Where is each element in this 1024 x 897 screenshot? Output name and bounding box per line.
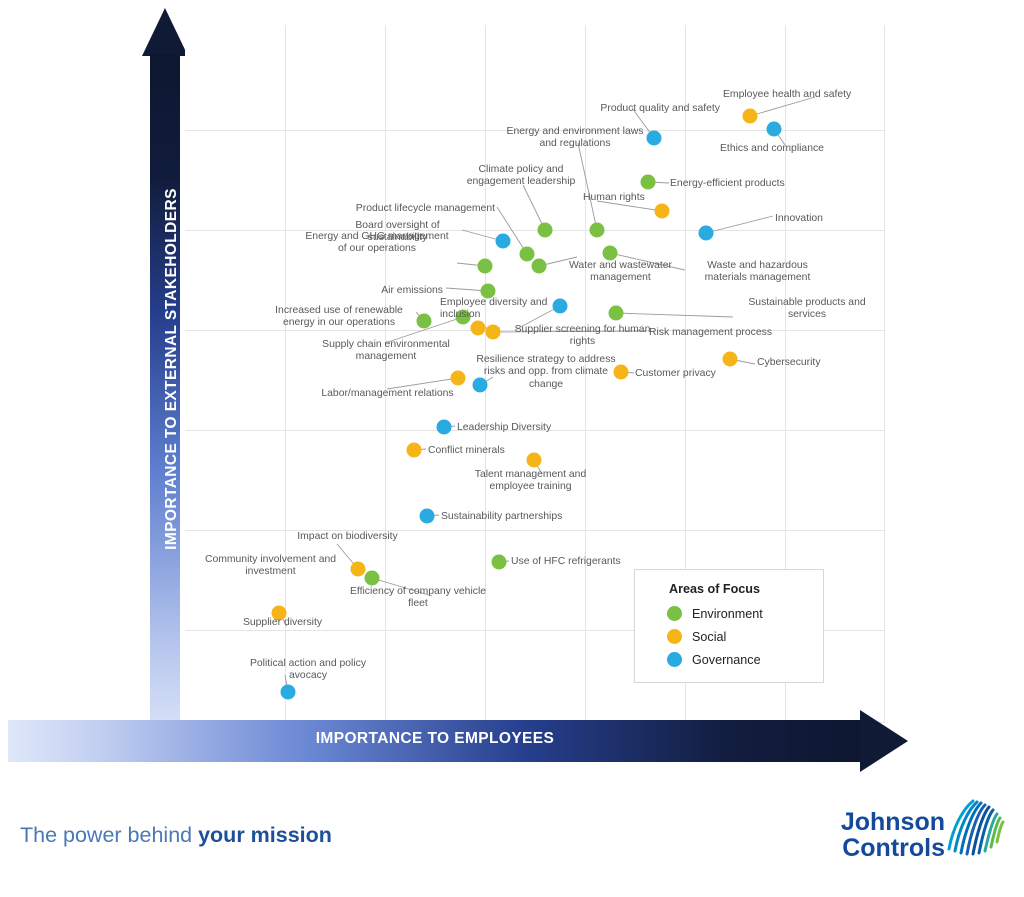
gridline-horizontal [185,230,885,231]
label-product-lifecycle-management: Product lifecycle management [335,203,495,215]
y-axis-arrowhead [142,8,188,56]
data-point-employee-health-and-safety[interactable] [743,109,758,124]
data-point-political-action-and-policy-advocacy[interactable] [281,685,296,700]
label-supply-chain-environmental: Supply chain environmental management [310,339,462,364]
label-customer-privacy: Customer privacy [635,368,740,380]
label-air-emissions: Air emissions [363,285,443,297]
label-innovation: Innovation [775,213,850,225]
data-point-ethics-and-compliance[interactable] [767,122,782,137]
data-point-efficiency-of-company-vehicle-fleet[interactable] [365,571,380,586]
data-point-product-lifecycle-management[interactable] [520,247,535,262]
data-point-innovation[interactable] [699,226,714,241]
data-point-supplier-screening-for-human-rights[interactable] [471,321,486,336]
label-efficiency-of-company-vehicle-fleet: Efficiency of company vehicle fleet [338,586,498,611]
legend: Areas of Focus EnvironmentSocialGovernan… [634,569,824,683]
label-energy-and-ghg-management: Energy and GHG management of our operati… [297,231,457,256]
label-climate-policy: Climate policy and engagement leadership [451,164,591,189]
label-conflict-minerals: Conflict minerals [428,445,528,457]
data-point-impact-on-biodiversity[interactable] [351,562,366,577]
label-political-action: Political action and policy avocacy [233,658,383,683]
label-energy-efficient-products: Energy-efficient products [670,178,810,190]
label-cybersecurity: Cybersecurity [757,357,847,369]
data-point-increased-use-of-renewable-energy[interactable] [417,314,432,329]
data-point-use-of-hfc-refrigerants[interactable] [492,555,507,570]
legend-label: Governance [692,653,761,667]
label-energy-and-environment-laws: Energy and environment laws and regulati… [485,126,665,151]
data-point-labor-management-relations[interactable] [451,371,466,386]
data-point-cybersecurity[interactable] [723,352,738,367]
label-sustainability-partnerships: Sustainability partnerships [441,511,591,523]
johnson-controls-logo: Johnson Controls [795,795,1010,880]
data-point-board-oversight-of-sustainability[interactable] [496,234,511,249]
legend-swatch-social-icon [667,629,682,644]
legend-swatch-governance-icon [667,652,682,667]
logo-line-1: Johnson [795,809,945,835]
label-product-quality-and-safety: Product quality and safety [585,103,720,115]
tagline-light: The power behind [20,823,198,847]
legend-title: Areas of Focus [669,582,823,596]
data-point-water-and-wastewater-management[interactable] [532,259,547,274]
logo-wordmark: Johnson Controls [795,809,945,861]
data-point-leadership-diversity[interactable] [437,420,452,435]
data-point-human-rights[interactable] [655,204,670,219]
data-point-sustainable-products-and-services[interactable] [609,306,624,321]
y-axis: IMPORTANCE TO EXTERNAL STAKEHOLDERS [142,8,188,750]
data-point-energy-and-ghg-management[interactable] [478,259,493,274]
label-leadership-diversity: Leadership Diversity [457,422,577,434]
x-axis: IMPORTANCE TO EMPLOYEES [8,710,908,772]
label-risk-management-process: Risk management process [649,327,794,339]
logo-swirl-icon [943,797,1007,859]
label-water-and-wastewater-management: Water and wastewater management [553,260,688,285]
label-talent-management: Talent management and employee training [453,469,608,494]
label-labor-management-relations: Labor/management relations [310,388,465,400]
label-human-rights: Human rights [583,192,663,204]
data-point-risk-management-process[interactable] [486,325,501,340]
label-employee-health-and-safety: Employee health and safety [723,89,873,101]
x-axis-label: IMPORTANCE TO EMPLOYEES [8,730,862,748]
logo-line-2: Controls [795,835,945,861]
data-point-conflict-minerals[interactable] [407,443,422,458]
tagline: The power behind your mission [20,823,332,848]
label-employee-diversity: Employee diversity and inclusion [440,297,570,322]
data-point-waste-and-hazardous-materials-management[interactable] [603,246,618,261]
legend-item-governance[interactable]: Governance [667,648,823,671]
label-supplier-diversity: Supplier diversity [230,617,335,629]
legend-rows: EnvironmentSocialGovernance [667,602,823,671]
legend-item-social[interactable]: Social [667,625,823,648]
legend-label: Social [692,630,726,644]
label-sustainable-products: Sustainable products and services [737,297,877,322]
label-increased-use-of-renewable: Increased use of renewable energy in our… [263,305,415,330]
legend-item-environment[interactable]: Environment [667,602,823,625]
y-axis-label: IMPORTANCE TO EXTERNAL STAKEHOLDERS [163,79,181,659]
tagline-bold: your mission [198,823,332,847]
legend-label: Environment [692,607,763,621]
label-resilience-strategy: Resilience strategy to address risks and… [465,354,627,391]
label-community-involvement: Community involvement and investment [193,554,348,579]
data-point-energy-efficient-products[interactable] [641,175,656,190]
data-point-sustainability-partnerships[interactable] [420,509,435,524]
label-use-of-hfc-refrigerants: Use of HFC refrigerants [511,556,646,568]
label-impact-on-biodiversity: Impact on biodiversity [285,531,410,543]
data-point-energy-and-environment-laws[interactable] [590,223,605,238]
data-point-talent-management-and-employee-training[interactable] [527,453,542,468]
label-waste-and-hazardous: Waste and hazardous materials management [690,260,825,285]
data-point-climate-policy-and-engagement-leadership[interactable] [538,223,553,238]
label-ethics-and-compliance: Ethics and compliance [720,143,850,155]
x-axis-arrowhead [860,710,908,772]
legend-swatch-environment-icon [667,606,682,621]
label-supplier-screening: Supplier screening for human rights [505,324,660,349]
